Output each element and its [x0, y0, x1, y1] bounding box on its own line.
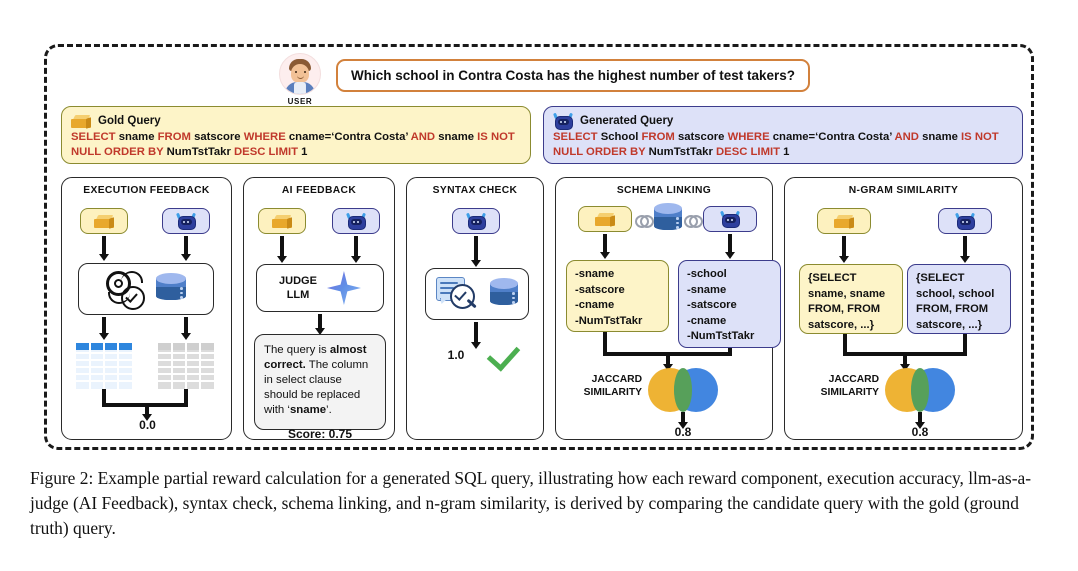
generated-query-title: Generated Query [580, 115, 673, 127]
schema-generated-columns-list: -school-sname-satscore-cname-NumTstTakr [678, 260, 781, 348]
gold-query-card: Gold Query SELECT sname FROM satscore WH… [61, 106, 531, 164]
syntax-generated-chip [452, 208, 500, 234]
figure-2-container: USER Which school in Contra Costa has th… [0, 0, 1078, 571]
ai-generated-chip [332, 208, 380, 234]
ngram-generated-chip [938, 208, 992, 234]
sql-execution-engine-box [78, 263, 214, 315]
gold-bar-icon [595, 213, 615, 226]
robot-icon [553, 113, 573, 129]
robot-icon [720, 211, 740, 227]
sparkle-icon [327, 271, 361, 305]
panel-syntax-check: SYNTAX CHECK [406, 177, 544, 440]
list-item: -cname [687, 314, 772, 330]
panel-execution-feedback: EXECUTION FEEDBACK [61, 177, 232, 440]
schema-gold-columns-list: -sname-satscore-cname-NumTstTakr [566, 260, 669, 332]
list-item: -sname [687, 283, 772, 299]
list-item: -NumTstTakr [575, 314, 660, 330]
ai-feedback-text: The query is almost correct. The column … [264, 344, 368, 416]
user-question-text: Which school in Contra Costa has the hig… [336, 59, 810, 92]
gold-query-title: Gold Query [98, 115, 161, 127]
panel-ai-feedback: AI FEEDBACK JUDGE LLM The [243, 177, 395, 440]
panel-title-ai-feedback: AI FEEDBACK [244, 185, 394, 196]
document-magnifier-icon [436, 275, 482, 313]
gear-refresh-check-icon [106, 269, 148, 309]
gold-result-table-icon [76, 343, 132, 389]
gold-bar-icon [94, 215, 114, 228]
gold-bar-icon [834, 215, 854, 228]
robot-icon [955, 213, 975, 229]
ai-feedback-score: Score: 0.75 [264, 427, 376, 442]
user-avatar-icon [279, 53, 321, 95]
panel-title-ngram-similarity: N-GRAM SIMILARITY [785, 185, 1022, 196]
ngram-generated-set: {SELECT school, school FROM, FROM satsco… [907, 264, 1011, 334]
schema-jaccard-label: JACCARD SIMILARITY [574, 374, 642, 399]
green-check-icon [487, 337, 521, 371]
generated-query-header: Generated Query [553, 113, 1013, 129]
ngram-similarity-score: 0.8 [893, 425, 947, 439]
connector-line [843, 334, 847, 354]
database-icon [156, 273, 186, 305]
schema-gold-chip [578, 206, 632, 232]
gold-query-header: Gold Query [71, 113, 521, 129]
execution-feedback-score: 0.0 [62, 418, 233, 432]
gold-query-sql: SELECT sname FROM satscore WHERE cname=‘… [71, 130, 521, 159]
panel-title-syntax-check: SYNTAX CHECK [407, 185, 543, 196]
schema-linking-score: 0.8 [656, 425, 710, 439]
list-item: -school [687, 267, 772, 283]
list-item: -cname [575, 298, 660, 314]
list-item: -satscore [687, 298, 772, 314]
ai-gold-chip [258, 208, 306, 234]
figure-caption: Figure 2: Example partial reward calcula… [30, 466, 1050, 541]
exec-gold-chip [80, 208, 128, 234]
list-item: -sname [575, 267, 660, 283]
ngram-gold-chip [817, 208, 871, 234]
connector-line [963, 334, 967, 354]
jaccard-venn-diagram [885, 368, 955, 412]
ai-feedback-bubble: The query is almost correct. The column … [254, 334, 386, 430]
panel-title-execution-feedback: EXECUTION FEEDBACK [62, 185, 231, 196]
gold-bar-icon [272, 215, 292, 228]
generated-query-sql: SELECT School FROM satscore WHERE cname=… [553, 130, 1013, 159]
user-label: USER [288, 97, 313, 106]
ngram-jaccard-label: JACCARD SIMILARITY [811, 374, 879, 399]
chain-link-icon [684, 214, 700, 226]
database-icon [490, 278, 518, 310]
diagram-outer-frame: USER Which school in Contra Costa has th… [44, 44, 1034, 450]
generated-result-table-icon [158, 343, 214, 389]
generated-query-card: Generated Query SELECT School FROM satsc… [543, 106, 1023, 164]
exec-generated-chip [162, 208, 210, 234]
robot-icon [176, 213, 196, 229]
panel-title-schema-linking: SCHEMA LINKING [556, 185, 772, 196]
judge-llm-box: JUDGE LLM [256, 264, 384, 312]
list-item: -NumTstTakr [687, 329, 772, 345]
robot-icon [346, 213, 366, 229]
connector-line [603, 332, 607, 354]
panel-schema-linking: SCHEMA LINKING -sname-satscore-cnam [555, 177, 773, 440]
schema-generated-chip [703, 206, 757, 232]
judge-llm-label: JUDGE LLM [279, 274, 317, 302]
user-avatar-block: USER [274, 53, 326, 106]
database-icon [654, 203, 682, 235]
gold-bar-icon [71, 115, 91, 128]
syntax-validator-box [425, 268, 529, 320]
jaccard-venn-diagram [648, 368, 718, 412]
syntax-check-score: 1.0 [431, 348, 481, 362]
list-item: -satscore [575, 283, 660, 299]
robot-icon [466, 213, 486, 229]
user-question-row: USER Which school in Contra Costa has th… [47, 53, 1037, 109]
panel-ngram-similarity: N-GRAM SIMILARITY {SELECT sname, sname F… [784, 177, 1023, 440]
ngram-gold-set: {SELECT sname, sname FROM, FROM satscore… [799, 264, 903, 334]
chain-link-icon [635, 214, 651, 226]
